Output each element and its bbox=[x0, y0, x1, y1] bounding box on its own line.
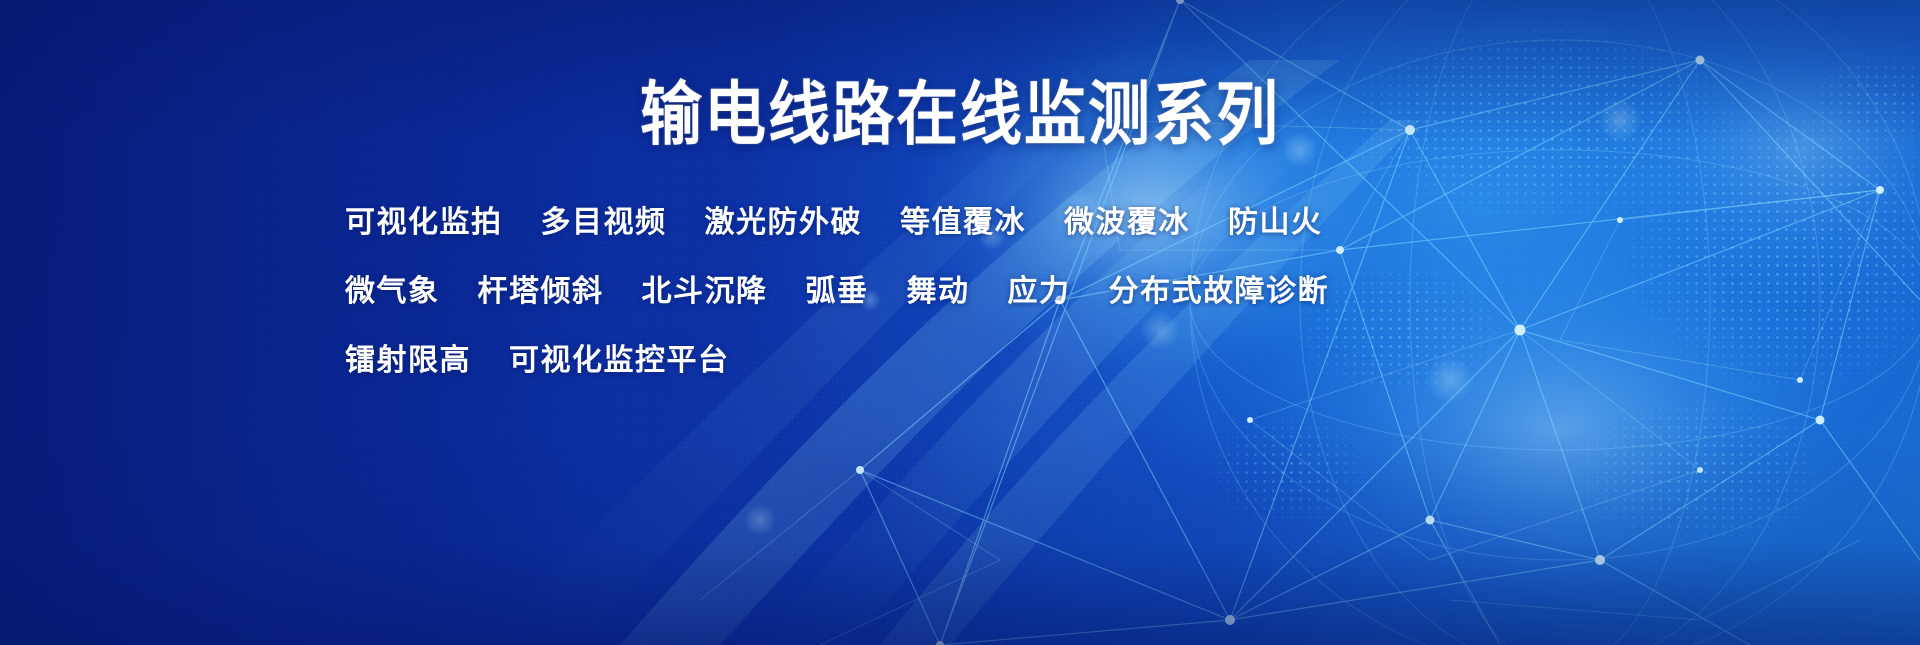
keyword-list: 可视化监拍 多目视频 激光防外破 等值覆冰 微波覆冰 防山火 微气象 杆塔倾斜 … bbox=[345, 205, 1545, 412]
keyword-item[interactable]: 微波覆冰 bbox=[1064, 205, 1190, 241]
keyword-item[interactable]: 激光防外破 bbox=[705, 205, 863, 241]
keyword-item[interactable]: 等值覆冰 bbox=[900, 205, 1026, 241]
keyword-item[interactable]: 可视化监拍 bbox=[345, 205, 503, 241]
keyword-row: 微气象 杆塔倾斜 北斗沉降 弧垂 舞动 应力 分布式故障诊断 bbox=[345, 274, 1545, 310]
keyword-item[interactable]: 微气象 bbox=[345, 274, 440, 310]
keyword-item[interactable]: 多目视频 bbox=[541, 205, 667, 241]
keyword-item[interactable]: 防山火 bbox=[1228, 205, 1323, 241]
banner-title: 输电线路在线监测系列 bbox=[0, 74, 1920, 155]
keyword-row: 镭射限高 可视化监控平台 bbox=[345, 343, 1545, 379]
keyword-item[interactable]: 舞动 bbox=[907, 274, 970, 310]
keyword-item[interactable]: 应力 bbox=[1008, 274, 1071, 310]
keyword-item[interactable]: 镭射限高 bbox=[345, 343, 471, 379]
keyword-item[interactable]: 可视化监控平台 bbox=[509, 343, 730, 379]
keyword-item[interactable]: 北斗沉降 bbox=[642, 274, 768, 310]
keyword-item[interactable]: 弧垂 bbox=[806, 274, 869, 310]
banner-content: 输电线路在线监测系列 可视化监拍 多目视频 激光防外破 等值覆冰 微波覆冰 防山… bbox=[0, 0, 1920, 645]
hero-banner: 输电线路在线监测系列 可视化监拍 多目视频 激光防外破 等值覆冰 微波覆冰 防山… bbox=[0, 0, 1920, 645]
keyword-row: 可视化监拍 多目视频 激光防外破 等值覆冰 微波覆冰 防山火 bbox=[345, 205, 1545, 241]
keyword-item[interactable]: 杆塔倾斜 bbox=[478, 274, 604, 310]
keyword-item[interactable]: 分布式故障诊断 bbox=[1109, 274, 1330, 310]
